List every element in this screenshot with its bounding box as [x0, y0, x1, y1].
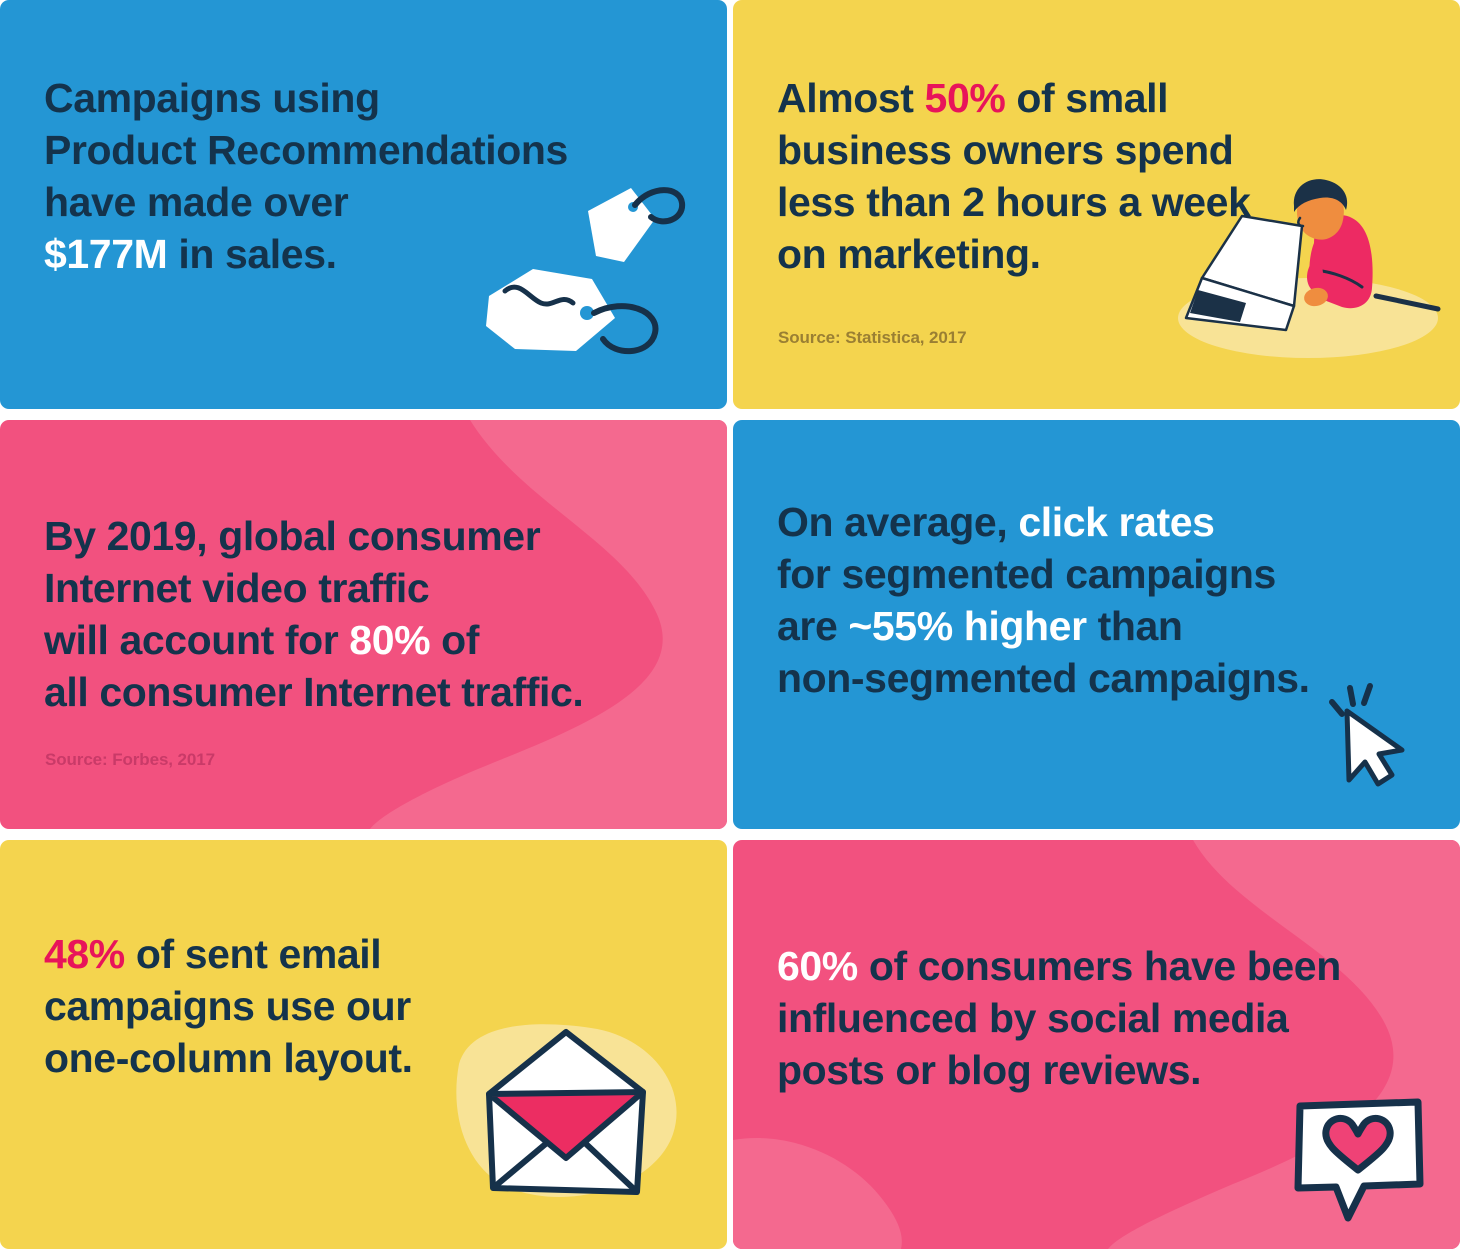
headline-line: Internet video traffic	[44, 565, 429, 611]
source-citation: Source: Forbes, 2017	[45, 750, 215, 770]
source-citation: Source: Statistica, 2017	[778, 328, 966, 348]
headline-line: all consumer Internet traffic.	[44, 669, 583, 715]
headline-line: campaigns use our	[44, 983, 411, 1029]
headline-line: one-column layout.	[44, 1035, 413, 1081]
headline-line: Almost	[777, 75, 925, 121]
stat-headline: Campaigns using Product Recommendations …	[44, 72, 568, 280]
headline-line: business owners spend	[777, 127, 1233, 173]
headline-line: Product Recommendations	[44, 127, 568, 173]
headline-line: in sales.	[167, 231, 336, 277]
stat-headline: Almost 50% of small business owners spen…	[777, 72, 1251, 280]
headline-line: than	[1087, 603, 1183, 649]
stat-highlight-value: 48%	[44, 931, 125, 977]
stat-card-one-column-layout: 48% of sent email campaigns use our one-…	[0, 840, 727, 1249]
open-envelope-icon	[441, 1006, 691, 1211]
stat-card-grid: Campaigns using Product Recommendations …	[0, 0, 1460, 1250]
headline-line: less than 2 hours a week	[777, 179, 1251, 225]
headline-line: are	[777, 603, 848, 649]
headline-line: posts or blog reviews.	[777, 1047, 1201, 1093]
stat-highlight-value: 60%	[777, 943, 858, 989]
headline-line: of consumers have been	[858, 943, 1341, 989]
heart-speech-bubble-icon	[1290, 1092, 1430, 1227]
stat-card-social-influence: 60% of consumers have been influenced by…	[733, 840, 1460, 1249]
stat-card-small-business-marketing: Almost 50% of small business owners spen…	[733, 0, 1460, 409]
stat-highlight-value: 80%	[349, 617, 430, 663]
headline-line: of	[430, 617, 479, 663]
headline-line: of small	[1005, 75, 1168, 121]
stat-headline: By 2019, global consumer Internet video …	[44, 510, 583, 718]
headline-line: have made over	[44, 179, 348, 225]
click-cursor-icon	[1316, 674, 1426, 789]
headline-line: By 2019, global consumer	[44, 513, 540, 559]
stat-card-segmented-click-rates: On average, click rates for segmented ca…	[733, 420, 1460, 829]
stat-card-internet-video-traffic: By 2019, global consumer Internet video …	[0, 420, 727, 829]
stat-card-product-recommendations: Campaigns using Product Recommendations …	[0, 0, 727, 409]
headline-line: influenced by social media	[777, 995, 1288, 1041]
stat-headline: 48% of sent email campaigns use our one-…	[44, 928, 413, 1084]
headline-line: of sent email	[125, 931, 381, 977]
headline-line: On average,	[777, 499, 1018, 545]
headline-line: on marketing.	[777, 231, 1041, 277]
stat-headline: On average, click rates for segmented ca…	[777, 496, 1310, 704]
stat-highlight-value: $177M	[44, 231, 167, 277]
headline-line: Campaigns using	[44, 75, 380, 121]
stat-highlight-value: ~55% higher	[848, 603, 1086, 649]
headline-line: will account for	[44, 617, 349, 663]
stat-headline: 60% of consumers have been influenced by…	[777, 940, 1341, 1096]
stat-highlight-value: 50%	[925, 75, 1006, 121]
headline-line: non-segmented campaigns.	[777, 655, 1310, 701]
stat-highlight-phrase: click rates	[1018, 499, 1214, 545]
headline-line: for segmented campaigns	[777, 551, 1276, 597]
